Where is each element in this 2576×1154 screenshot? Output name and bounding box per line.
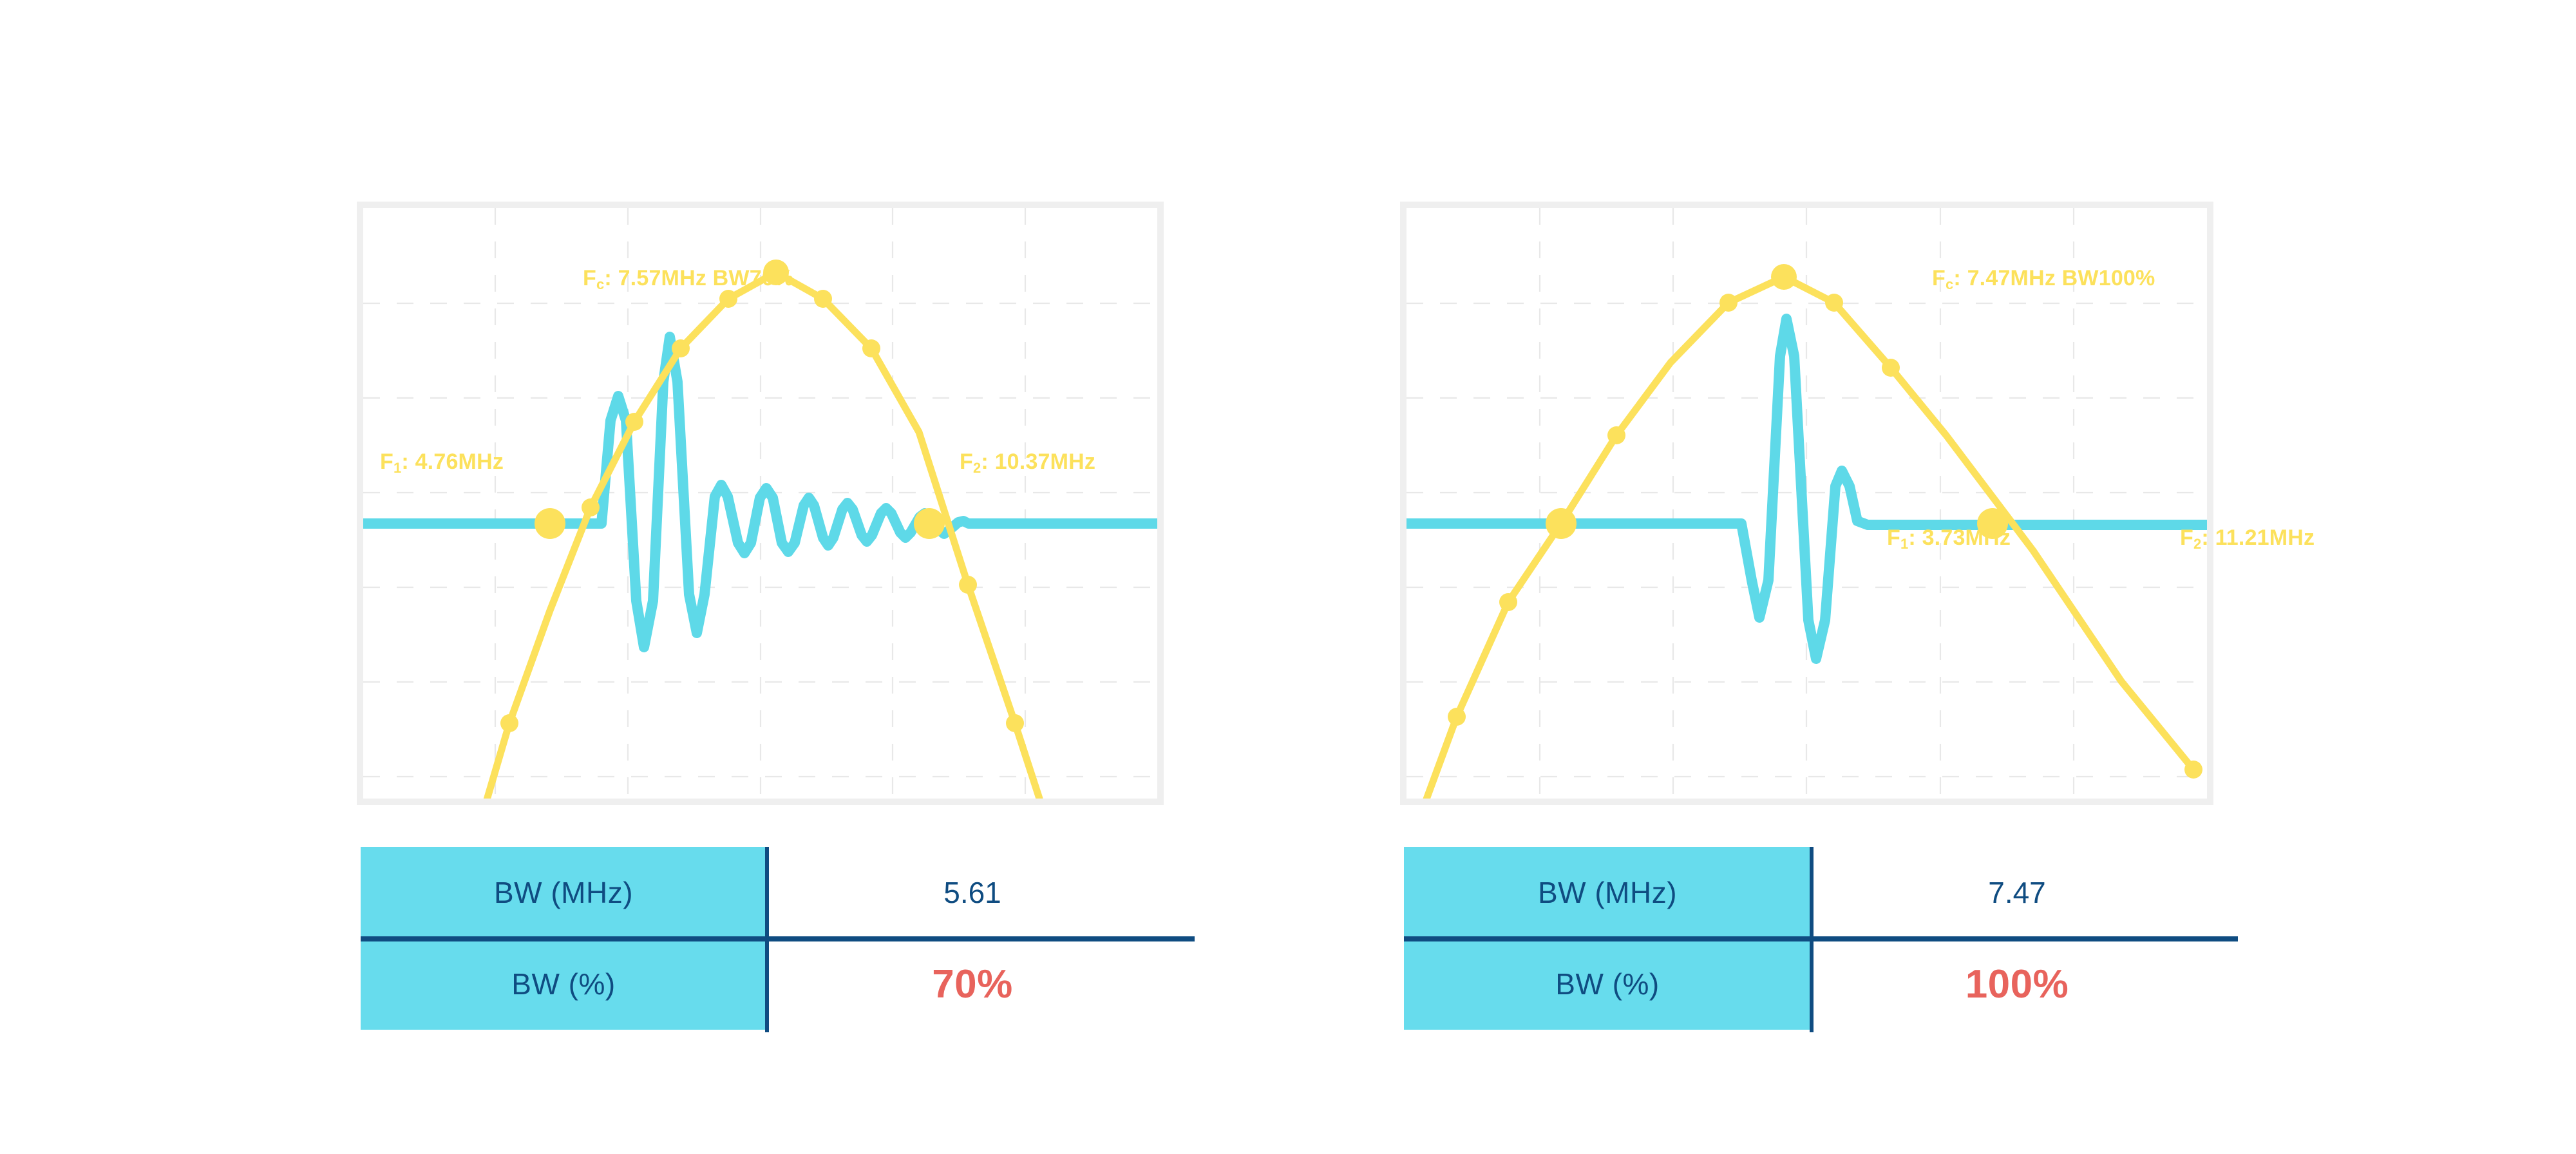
row-value-bw-mhz: 7.47: [1811, 847, 2223, 938]
annotation-upper-cutoff-right: F2: 11.21MHz: [2180, 527, 2315, 549]
annotation-center-frequency-left: Fc: 7.57MHz BW70%: [583, 267, 793, 289]
marker-f1-left: [535, 508, 565, 539]
plot-svg-right: [1406, 208, 2207, 799]
row-label-bw-pct: BW (%): [361, 938, 766, 1030]
table-row: BW (MHz) 5.61: [361, 847, 1179, 938]
spectrum-plot-left: [357, 202, 1164, 805]
table-row: BW (%) 70%: [361, 938, 1179, 1030]
annotation-center-frequency-right: Fc: 7.47MHz BW100%: [1932, 267, 2155, 289]
table-row: BW (%) 100%: [1404, 938, 2223, 1030]
annotation-lower-cutoff-right: F1: 3.73MHz: [1887, 527, 2011, 549]
screenshot-root: Fc: 7.57MHz BW70% F1: 4.76MHz F2: 10.37M…: [0, 0, 2576, 1154]
annotation-upper-cutoff-left: F2: 10.37MHz: [960, 451, 1095, 473]
row-label-bw-mhz: BW (MHz): [361, 847, 766, 938]
bandwidth-table-left: BW (MHz) 5.61 BW (%) 70%: [361, 847, 1179, 1032]
panel-narrowband: Fc: 7.57MHz BW70% F1: 4.76MHz F2: 10.37M…: [0, 0, 1288, 1154]
table-row: BW (MHz) 7.47: [1404, 847, 2223, 938]
table-mid-rule: [1404, 936, 2238, 941]
row-value-bw-mhz: 5.61: [766, 847, 1179, 938]
annotation-lower-cutoff-left: F1: 4.76MHz: [380, 451, 504, 473]
marker-f1-right: [1546, 508, 1577, 539]
plot-inner-left: [363, 208, 1157, 799]
row-value-bw-pct: 70%: [766, 938, 1179, 1030]
row-value-bw-pct: 100%: [1811, 938, 2223, 1030]
panel-broadband: Fc: 7.47MHz BW100% F1: 3.73MHz F2: 11.21…: [1288, 0, 2576, 1154]
table-mid-rule: [361, 936, 1195, 941]
plot-inner-right: [1406, 208, 2207, 799]
plot-svg-left: [363, 208, 1157, 799]
row-label-bw-mhz: BW (MHz): [1404, 847, 1811, 938]
spectrum-plot-right: [1400, 202, 2213, 805]
marker-f2-left: [914, 508, 945, 539]
row-label-bw-pct: BW (%): [1404, 938, 1811, 1030]
bandwidth-table-right: BW (MHz) 7.47 BW (%) 100%: [1404, 847, 2223, 1032]
